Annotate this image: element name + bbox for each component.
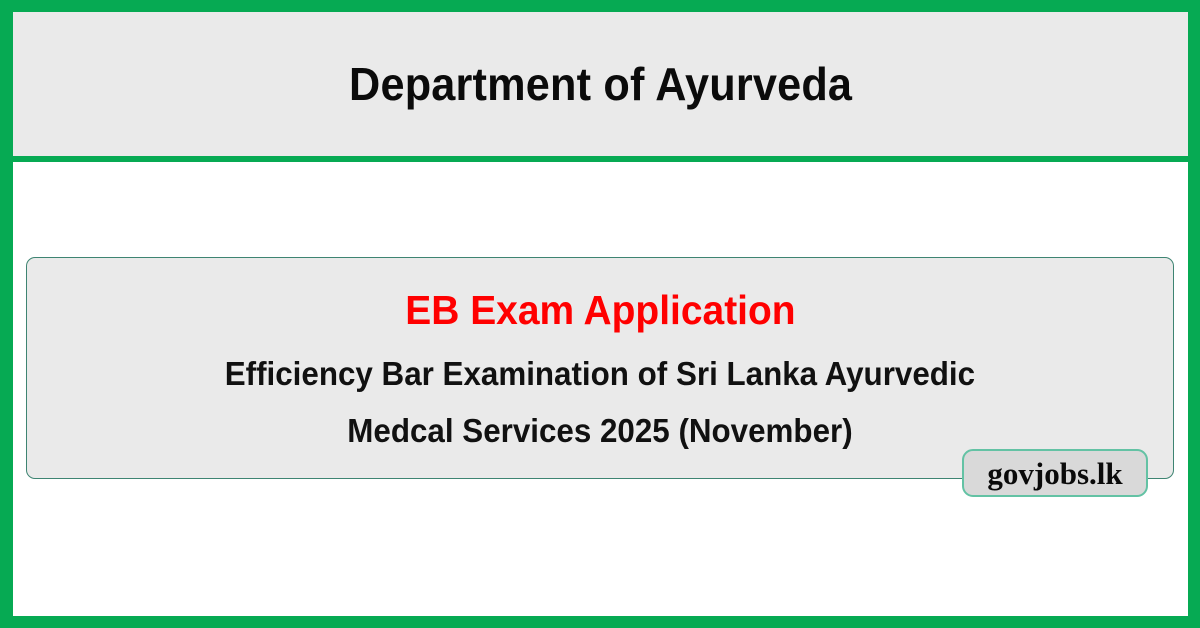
site-badge[interactable]: govjobs.lk [962, 449, 1148, 497]
announcement-heading: EB Exam Application [405, 290, 795, 331]
page-title: Department of Ayurveda [349, 61, 852, 107]
header-band: Department of Ayurveda [13, 12, 1188, 156]
body-area: EB Exam Application Efficiency Bar Exami… [13, 162, 1188, 616]
announcement-subtitle-line-1: Efficiency Bar Examination of Sri Lanka … [225, 357, 975, 390]
announcement-subtitle-line-2: Medcal Services 2025 (November) [347, 414, 852, 447]
poster-frame: Department of Ayurveda EB Exam Applicati… [0, 0, 1200, 628]
site-badge-label: govjobs.lk [987, 458, 1122, 489]
announcement-card: EB Exam Application Efficiency Bar Exami… [26, 257, 1174, 479]
poster-inner: Department of Ayurveda EB Exam Applicati… [13, 12, 1188, 616]
